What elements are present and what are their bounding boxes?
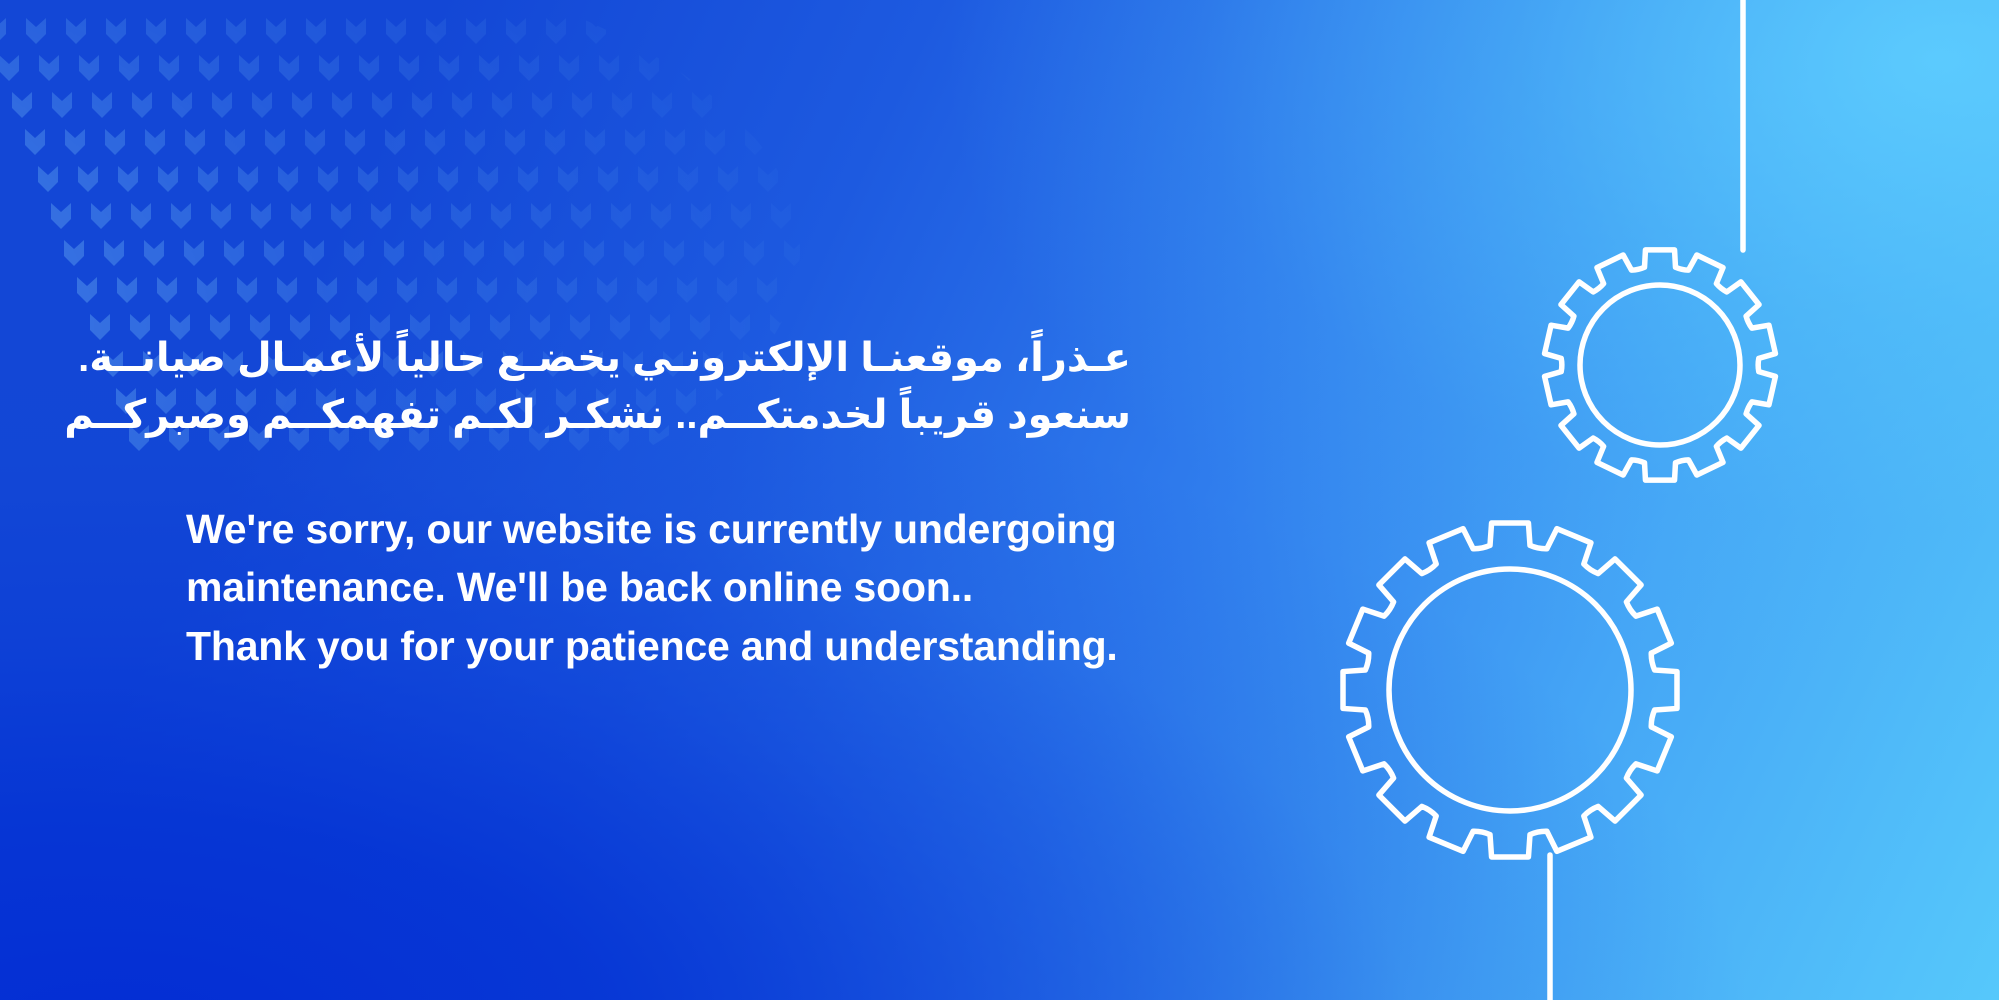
english-line-1: We're sorry, our website is currently un… bbox=[186, 500, 1316, 559]
arabic-message: عـذراً، موقعنـا الإلكترونـي يخضـع حالياً… bbox=[186, 330, 1131, 444]
message-block: عـذراً، موقعنـا الإلكترونـي يخضـع حالياً… bbox=[186, 330, 1316, 675]
english-line-3: Thank you for your patience and understa… bbox=[186, 617, 1316, 676]
maintenance-page: عـذراً، موقعنـا الإلكترونـي يخضـع حالياً… bbox=[0, 0, 1999, 1000]
english-line-2: maintenance. We'll be back online soon.. bbox=[186, 558, 1316, 617]
english-message: We're sorry, our website is currently un… bbox=[186, 500, 1316, 676]
arabic-line-2: سنعود قريباً لخدمتكــم.. نشكـر لكـم تفهم… bbox=[186, 387, 1131, 444]
arabic-line-1: عـذراً، موقعنـا الإلكترونـي يخضـع حالياً… bbox=[186, 330, 1131, 387]
message-spacer bbox=[186, 444, 1316, 500]
